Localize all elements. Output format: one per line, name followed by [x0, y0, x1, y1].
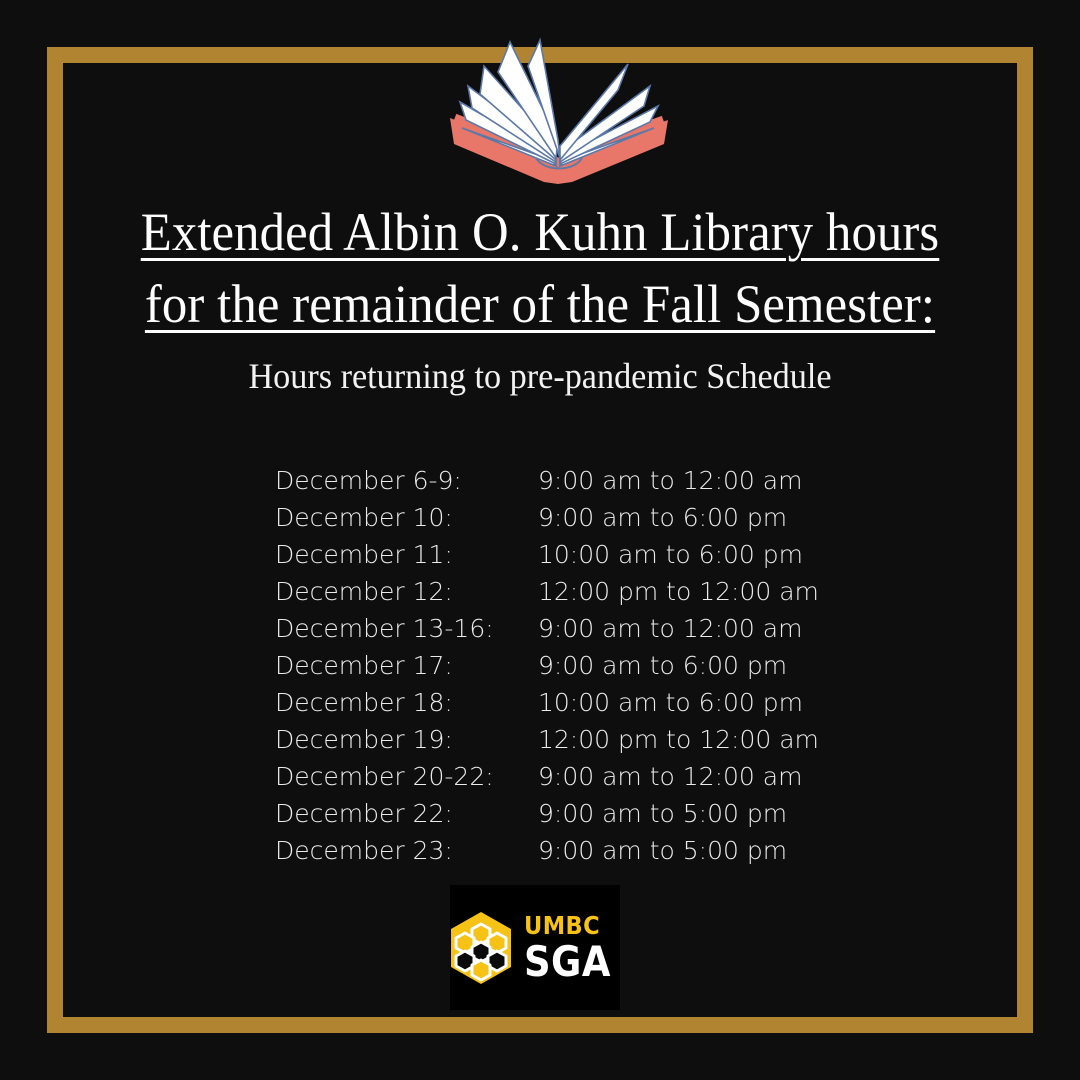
schedule-hours: 12:00 pm to 12:00 am	[538, 721, 835, 758]
page-title-line-2: for the remainder of the Fall Semester:	[98, 268, 982, 340]
table-row: December 19: 12:00 pm to 12:00 am	[275, 721, 835, 758]
library-hours-table: December 6-9: 9:00 am to 12:00 am Decemb…	[275, 462, 835, 869]
logo-umbc-text: UMBC	[524, 913, 613, 938]
headline-block: Extended Albin O. Kuhn Library hours for…	[70, 196, 1010, 404]
schedule-date: December 6-9:	[275, 462, 538, 499]
schedule-hours: 9:00 am to 6:00 pm	[538, 499, 835, 536]
schedule-hours: 9:00 am to 12:00 am	[538, 758, 835, 795]
logo-wordmark: UMBC SGA	[524, 913, 623, 983]
table-row: December 18: 10:00 am to 6:00 pm	[275, 684, 835, 721]
schedule-date: December 11:	[275, 536, 538, 573]
table-row: December 20-22: 9:00 am to 12:00 am	[275, 758, 835, 795]
schedule-date: December 23:	[275, 832, 538, 869]
schedule-hours: 10:00 am to 6:00 pm	[538, 536, 835, 573]
schedule-hours: 9:00 am to 12:00 am	[538, 462, 835, 499]
table-row: December 13-16: 9:00 am to 12:00 am	[275, 610, 835, 647]
table-row: December 22: 9:00 am to 5:00 pm	[275, 795, 835, 832]
schedule-date: December 19:	[275, 721, 538, 758]
table-row: December 17: 9:00 am to 6:00 pm	[275, 647, 835, 684]
open-book-icon	[432, 36, 684, 188]
table-row: December 23: 9:00 am to 5:00 pm	[275, 832, 835, 869]
schedule-date: December 17:	[275, 647, 538, 684]
schedule-hours: 9:00 am to 6:00 pm	[538, 647, 835, 684]
schedule-date: December 18:	[275, 684, 538, 721]
table-row: December 12: 12:00 pm to 12:00 am	[275, 573, 835, 610]
schedule-hours: 9:00 am to 5:00 pm	[538, 832, 835, 869]
schedule-date: December 10:	[275, 499, 538, 536]
schedule-date: December 13-16:	[275, 610, 538, 647]
schedule-date: December 22:	[275, 795, 538, 832]
schedule-hours: 9:00 am to 5:00 pm	[538, 795, 835, 832]
library-hours-body: December 6-9: 9:00 am to 12:00 am Decemb…	[275, 462, 835, 869]
table-row: December 6-9: 9:00 am to 12:00 am	[275, 462, 835, 499]
poster-canvas: Extended Albin O. Kuhn Library hours for…	[0, 0, 1080, 1080]
schedule-hours: 12:00 pm to 12:00 am	[538, 573, 835, 610]
schedule-date: December 20-22:	[275, 758, 538, 795]
schedule-hours: 10:00 am to 6:00 pm	[538, 684, 835, 721]
schedule-date: December 12:	[275, 573, 538, 610]
page-subtitle: Hours returning to pre-pandemic Schedule	[94, 348, 987, 404]
logo-sga-text: SGA	[524, 941, 611, 983]
umbc-sga-logo: UMBC SGA	[450, 885, 620, 1010]
table-row: December 11: 10:00 am to 6:00 pm	[275, 536, 835, 573]
table-row: December 10: 9:00 am to 6:00 pm	[275, 499, 835, 536]
honeycomb-hexagon-icon	[447, 910, 515, 986]
page-title-line-1: Extended Albin O. Kuhn Library hours	[98, 196, 982, 268]
schedule-hours: 9:00 am to 12:00 am	[538, 610, 835, 647]
